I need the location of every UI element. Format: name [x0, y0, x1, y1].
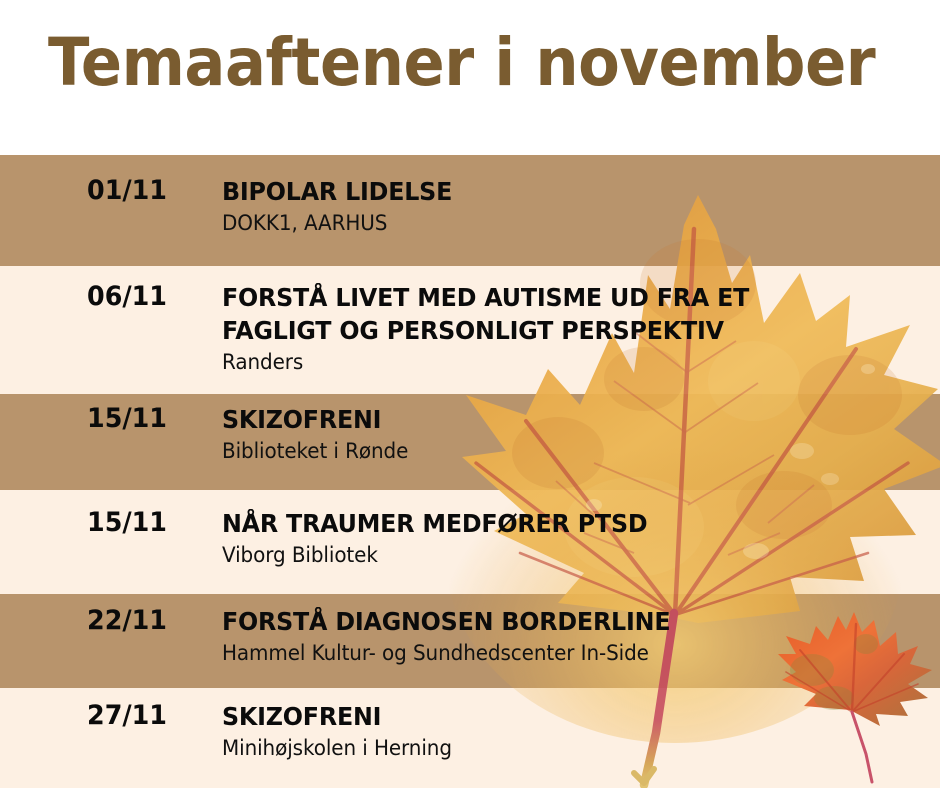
band-4 [0, 490, 940, 594]
band-stack [0, 155, 940, 788]
band-3 [0, 394, 940, 490]
band-2 [0, 266, 940, 394]
poster-header: Temaaftener i november [0, 0, 940, 155]
band-5 [0, 594, 940, 688]
band-6 [0, 688, 940, 788]
poster-canvas: Temaaftener i november 01/11 BIPOLAR LID… [0, 0, 940, 788]
page-title: Temaaftener i november [48, 27, 875, 98]
band-1 [0, 155, 940, 266]
